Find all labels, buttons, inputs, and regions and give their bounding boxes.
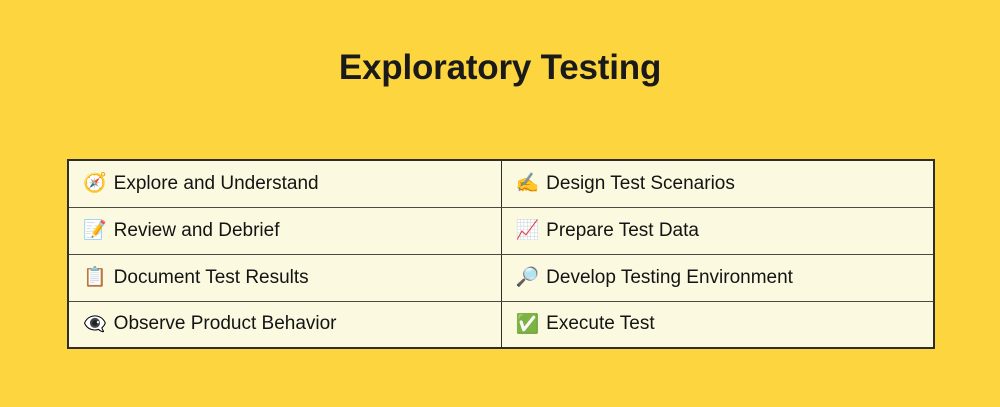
cell-label: Design Test Scenarios	[546, 172, 735, 196]
cell-label: Observe Product Behavior	[114, 312, 337, 336]
cell-label: Document Test Results	[114, 266, 309, 290]
table-row: 🧭 Explore and Understand ✍️ Design Test …	[68, 160, 934, 207]
cell-content: 🔎 Develop Testing Environment	[516, 266, 934, 290]
check-mark-button-icon: ✅	[516, 315, 540, 334]
table-cell-document-test-results[interactable]: 📋 Document Test Results	[68, 254, 501, 301]
cell-label: Execute Test	[546, 312, 654, 336]
cell-content: 📈 Prepare Test Data	[516, 219, 934, 243]
table-cell-develop-testing-environment[interactable]: 🔎 Develop Testing Environment	[501, 254, 934, 301]
cell-label: Prepare Test Data	[546, 219, 699, 243]
activity-table: 🧭 Explore and Understand ✍️ Design Test …	[67, 159, 935, 349]
compass-icon: 🧭	[83, 174, 107, 193]
magnifying-glass-icon: 🔎	[516, 268, 540, 287]
writing-hand-icon: ✍️	[516, 174, 540, 193]
table-cell-review-and-debrief[interactable]: 📝 Review and Debrief	[68, 207, 501, 254]
cell-content: 🧭 Explore and Understand	[83, 172, 501, 196]
cell-label: Review and Debrief	[114, 219, 280, 243]
memo-icon: 📝	[83, 221, 107, 240]
table-cell-design-test-scenarios[interactable]: ✍️ Design Test Scenarios	[501, 160, 934, 207]
cell-content: ✍️ Design Test Scenarios	[516, 172, 934, 196]
table-row: 📝 Review and Debrief 📈 Prepare Test Data	[68, 207, 934, 254]
infographic-page: Exploratory Testing 🧭 Explore and Unders…	[0, 0, 1000, 407]
table-cell-prepare-test-data[interactable]: 📈 Prepare Test Data	[501, 207, 934, 254]
chart-increasing-icon: 📈	[516, 221, 540, 240]
cell-content: 📋 Document Test Results	[83, 266, 501, 290]
table-row: 📋 Document Test Results 🔎 Develop Testin…	[68, 254, 934, 301]
cell-content: 👁️‍🗨️ Observe Product Behavior	[83, 312, 501, 336]
cell-content: ✅ Execute Test	[516, 312, 934, 336]
page-title: Exploratory Testing	[0, 46, 1000, 90]
cell-content: 📝 Review and Debrief	[83, 219, 501, 243]
clipboard-icon: 📋	[83, 268, 107, 287]
table-cell-explore-and-understand[interactable]: 🧭 Explore and Understand	[68, 160, 501, 207]
eye-in-speech-bubble-icon: 👁️‍🗨️	[83, 315, 107, 334]
cell-label: Develop Testing Environment	[546, 266, 793, 290]
activity-table-body: 🧭 Explore and Understand ✍️ Design Test …	[68, 160, 934, 348]
table-row: 👁️‍🗨️ Observe Product Behavior ✅ Execute…	[68, 301, 934, 348]
table-cell-execute-test[interactable]: ✅ Execute Test	[501, 301, 934, 348]
cell-label: Explore and Understand	[114, 172, 319, 196]
table-cell-observe-product-behavior[interactable]: 👁️‍🗨️ Observe Product Behavior	[68, 301, 501, 348]
